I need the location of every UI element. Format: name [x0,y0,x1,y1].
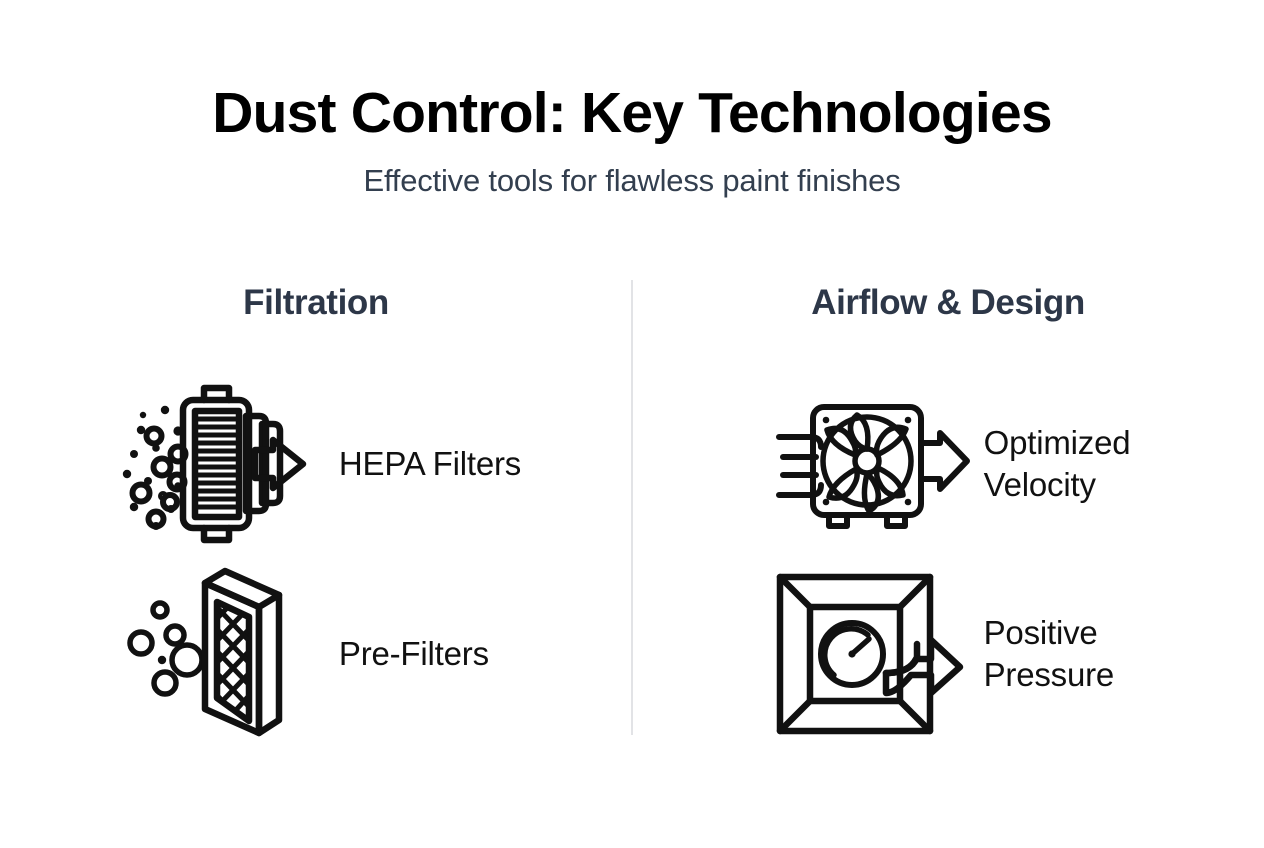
infographic-page: Dust Control: Key Technologies Effective… [0,0,1264,848]
column-title-filtration: Filtration [243,275,389,331]
hepa-filter-icon [111,374,321,554]
list-item-label: Pre-Filters [339,633,489,675]
page-subtitle: Effective tools for flawless paint finis… [0,164,1264,198]
positive-pressure-icon [766,564,976,744]
pre-filter-icon [111,564,321,744]
list-item-label: Positive Pressure [984,612,1114,696]
list-item-label: Optimized Velocity [984,422,1131,506]
list-item-positive-pressure[interactable]: Positive Pressure [766,559,1131,749]
list-item-optimized-velocity[interactable]: Optimized Velocity [766,369,1131,559]
filtration-items: HEPA Filters [111,369,521,749]
list-item-hepa-filters[interactable]: HEPA Filters [111,369,521,559]
airflow-items: Optimized Velocity [766,369,1131,749]
list-item-pre-filters[interactable]: Pre-Filters [111,559,521,749]
column-divider [631,280,633,735]
columns-container: Filtration [0,275,1264,749]
column-title-airflow-design: Airflow & Design [811,275,1085,331]
page-title: Dust Control: Key Technologies [0,84,1264,144]
fan-airflow-icon [766,374,976,554]
column-airflow-design: Airflow & Design [632,275,1264,749]
header: Dust Control: Key Technologies Effective… [0,0,1264,198]
column-filtration: Filtration [0,275,632,749]
list-item-label: HEPA Filters [339,443,521,485]
